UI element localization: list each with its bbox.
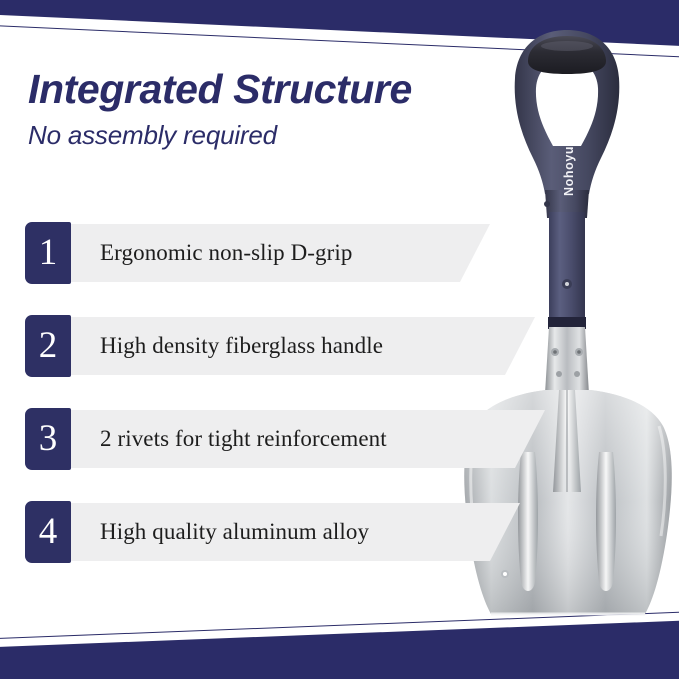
feature-label: High quality aluminum alloy — [65, 519, 369, 545]
page-title: Integrated Structure — [28, 68, 412, 111]
brand-label: Nohoyu — [562, 146, 576, 196]
feature-number-badge: 3 — [25, 408, 71, 470]
page-subtitle: No assembly required — [28, 120, 412, 151]
grip-neck-rivet — [544, 201, 550, 207]
feature-bar: 2 rivets for tight reinforcement — [65, 410, 545, 468]
feature-label: 2 rivets for tight reinforcement — [65, 426, 387, 452]
feature-label: Ergonomic non-slip D-grip — [65, 240, 353, 266]
fiberglass-shaft — [549, 212, 585, 322]
feature-number-badge: 2 — [25, 315, 71, 377]
feature-number-badge: 1 — [25, 222, 71, 284]
feature-bar: Ergonomic non-slip D-grip — [65, 224, 490, 282]
feature-number-badge: 4 — [25, 501, 71, 563]
feature-number: 3 — [39, 420, 58, 459]
feature-number: 4 — [39, 513, 58, 552]
feature-label: High density fiberglass handle — [65, 333, 383, 359]
blade-rib-left — [518, 452, 538, 591]
aluminum-ferrule — [545, 327, 589, 394]
feature-number: 2 — [39, 327, 58, 366]
blade-rib-right — [596, 452, 616, 591]
heading-block: Integrated Structure No assembly require… — [28, 68, 412, 151]
feature-bar: High quality aluminum alloy — [65, 503, 520, 561]
feature-number: 1 — [39, 234, 58, 273]
infographic-canvas: Integrated Structure No assembly require… — [0, 0, 679, 679]
feature-bar: High density fiberglass handle — [65, 317, 535, 375]
